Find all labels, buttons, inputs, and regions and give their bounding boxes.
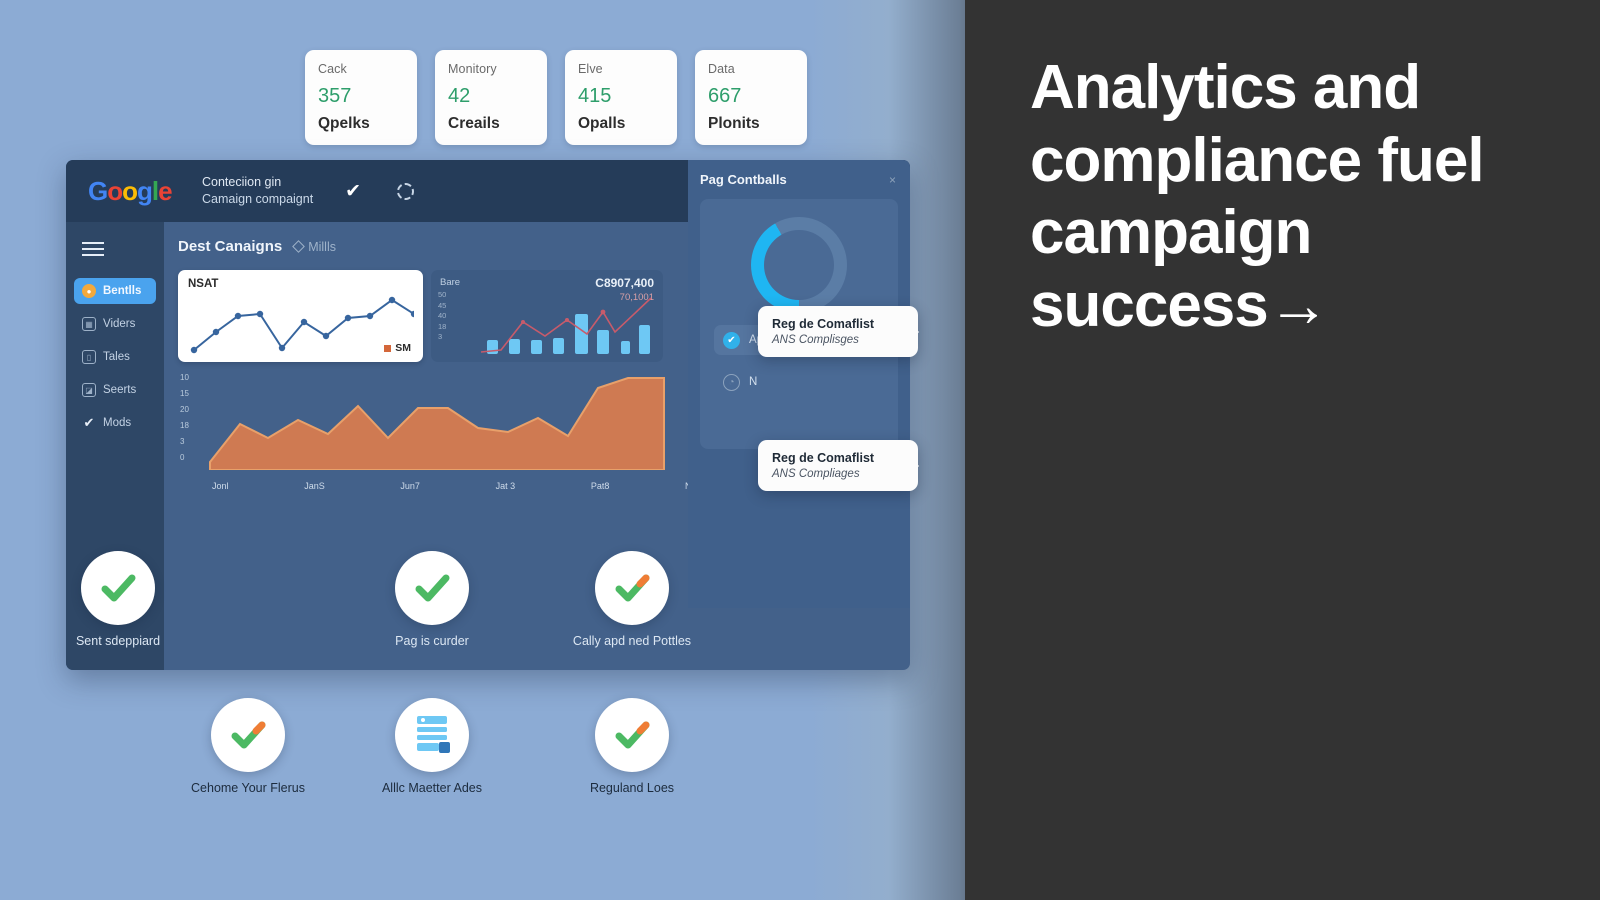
- badge-label: Alllc Maetter Ades: [372, 781, 492, 796]
- check-circle-icon: ✔: [723, 332, 740, 349]
- logo-letter: o: [107, 176, 122, 207]
- y-tick: 15: [180, 386, 189, 402]
- badge-label: Reguland Loes: [572, 781, 692, 796]
- hamburger-menu-icon[interactable]: [82, 242, 104, 256]
- kpi-value: 415: [578, 86, 664, 106]
- window-title: Conteciion gin Camaign compaignt: [202, 174, 313, 208]
- check-icon: ✔: [345, 180, 361, 203]
- kpi-card-row: Cack 357 Qpelks Monitory 42 Creails Elve…: [305, 50, 807, 145]
- check-icon: [611, 714, 653, 756]
- kpi-unit: Opalls: [578, 115, 664, 133]
- kpi-unit: Plonits: [708, 115, 794, 133]
- document-icon: [412, 713, 452, 757]
- kpi-label: Cack: [318, 62, 404, 76]
- badge-label: Cally apd ned Pottles: [572, 634, 692, 649]
- kpi-card[interactable]: Elve 415 Opalls: [565, 50, 677, 145]
- kpi-value: 42: [448, 86, 534, 106]
- badge-circle: [395, 698, 469, 772]
- y-tick: 0: [180, 450, 189, 466]
- right-panel-title: Pag Contballs: [700, 172, 898, 187]
- window-title-line1: Conteciion gin: [202, 174, 313, 191]
- page-subtitle-label: Millls: [308, 240, 336, 254]
- x-tick: Jat 3: [496, 481, 516, 491]
- combo-chart-card[interactable]: Bare C8907,400 70,1001 50 45 40 18 3: [431, 270, 663, 362]
- user-icon: ●: [82, 284, 96, 298]
- badge-label: Sent sdeppiard: [58, 634, 178, 649]
- sidebar-item-tales[interactable]: ▯ Tales: [74, 344, 156, 370]
- y-tick: 3: [180, 434, 189, 450]
- y-tick: 50: [438, 290, 446, 301]
- donut-chart[interactable]: [751, 217, 847, 313]
- page-title: Dest Canaigns: [178, 238, 282, 255]
- badge-cehome-your-flerus[interactable]: Cehome Your Flerus: [188, 698, 308, 796]
- right-panel-item-n[interactable]: ◔ N: [714, 367, 884, 397]
- badge-circle: [595, 698, 669, 772]
- x-tick: Jun7: [400, 481, 420, 491]
- line-chart-svg: [186, 292, 414, 358]
- pencil-icon: ✔: [82, 416, 96, 430]
- clock-icon: ◔: [723, 374, 740, 391]
- diamond-icon: [292, 240, 305, 253]
- sidebar-item-label: Bentlls: [103, 285, 141, 297]
- y-tick: 10: [180, 370, 189, 386]
- window-title-line2: Camaign compaignt: [202, 191, 313, 208]
- kpi-label: Elve: [578, 62, 664, 76]
- badge-circle: [211, 698, 285, 772]
- right-panel-item-label: N: [749, 376, 757, 388]
- headline: Analytics and compliance fuel campaign s…: [1030, 52, 1550, 342]
- combo-chart-svg: [479, 292, 654, 354]
- area-chart-svg: [206, 370, 666, 470]
- y-tick: 18: [180, 418, 189, 434]
- close-icon[interactable]: ×: [889, 173, 896, 187]
- check-icon: [411, 567, 453, 609]
- tooltip-card[interactable]: Reg de Comaflist ANS Compliages: [758, 440, 918, 491]
- check-icon: [227, 714, 269, 756]
- combo-chart-y-axis: 50 45 40 18 3: [438, 290, 446, 343]
- page-subtitle: Millls: [294, 240, 336, 254]
- y-tick: 20: [180, 402, 189, 418]
- logo-letter: e: [158, 176, 171, 207]
- kpi-label: Monitory: [448, 62, 534, 76]
- kpi-label: Data: [708, 62, 794, 76]
- sidebar-item-label: Viders: [103, 318, 135, 330]
- tooltip-title: Reg de Comaflist: [772, 317, 904, 331]
- check-icon: [97, 567, 139, 609]
- badge-sent-sdeppiard[interactable]: Sent sdeppiard: [58, 551, 178, 649]
- x-tick: Pat8: [591, 481, 610, 491]
- y-tick: 18: [438, 322, 446, 333]
- combo-chart-value-primary: C8907,400: [595, 276, 654, 290]
- kpi-card[interactable]: Monitory 42 Creails: [435, 50, 547, 145]
- x-tick: JanS: [304, 481, 325, 491]
- poster-stage: Cack 357 Qpelks Monitory 42 Creails Elve…: [0, 0, 1600, 900]
- right-panel: Pag Contballs × ✔ Apdrt Cantligs ◔ N: [688, 160, 910, 608]
- calendar-icon: ▦: [82, 317, 96, 331]
- tooltip-card[interactable]: Reg de Comaflist ANS Complisges: [758, 306, 918, 357]
- logo-letter: o: [122, 176, 137, 207]
- line-chart-card[interactable]: NSAT: [178, 270, 423, 362]
- legend-label: SM: [395, 342, 411, 354]
- badge-alllc-maetter-ades[interactable]: Alllc Maetter Ades: [372, 698, 492, 796]
- line-chart-title: NSAT: [188, 278, 413, 290]
- badge-icon: ◪: [82, 383, 96, 397]
- badge-circle: [395, 551, 469, 625]
- x-tick: Jonl: [212, 481, 229, 491]
- kpi-card[interactable]: Cack 357 Qpelks: [305, 50, 417, 145]
- sidebar-item-label: Mods: [103, 417, 131, 429]
- sidebar-item-label: Tales: [103, 351, 130, 363]
- kpi-value: 357: [318, 86, 404, 106]
- sidebar-item-label: Seerts: [103, 384, 136, 396]
- loading-spinner-icon: [397, 183, 414, 200]
- tooltip-title: Reg de Comaflist: [772, 451, 904, 465]
- logo-letter: g: [137, 176, 152, 207]
- sidebar-item-seerts[interactable]: ◪ Seerts: [74, 377, 156, 403]
- badge-circle: [595, 551, 669, 625]
- badge-cally-apd-ned-pottles[interactable]: Cally apd ned Pottles: [572, 551, 692, 649]
- y-tick: 40: [438, 311, 446, 322]
- kpi-value: 667: [708, 86, 794, 106]
- tooltip-subtitle: ANS Compliages: [772, 468, 904, 480]
- area-chart-y-axis: 10 15 20 18 3 0: [180, 370, 189, 466]
- kpi-unit: Qpelks: [318, 115, 404, 133]
- legend-swatch-icon: [384, 345, 391, 352]
- badge-circle: [81, 551, 155, 625]
- google-logo: Google: [88, 176, 164, 207]
- sidebar-item-viders[interactable]: ▦ Viders: [74, 311, 156, 337]
- check-icon: [611, 567, 653, 609]
- lock-icon: ▯: [82, 350, 96, 364]
- logo-letter: G: [88, 176, 107, 207]
- badge-pag-is-curder[interactable]: Pag is curder: [372, 551, 492, 649]
- badge-label: Pag is curder: [372, 634, 492, 649]
- kpi-unit: Creails: [448, 115, 534, 133]
- y-tick: 3: [438, 332, 446, 343]
- line-chart-legend: SM: [384, 342, 411, 354]
- sidebar-item-mods[interactable]: ✔ Mods: [74, 410, 156, 436]
- sidebar-item-bentlls[interactable]: ● Bentlls: [74, 278, 156, 304]
- y-tick: 45: [438, 301, 446, 312]
- badge-reguland-loes[interactable]: Reguland Loes: [572, 698, 692, 796]
- tooltip-subtitle: ANS Complisges: [772, 334, 904, 346]
- badge-label: Cehome Your Flerus: [188, 781, 308, 796]
- kpi-card[interactable]: Data 667 Plonits: [695, 50, 807, 145]
